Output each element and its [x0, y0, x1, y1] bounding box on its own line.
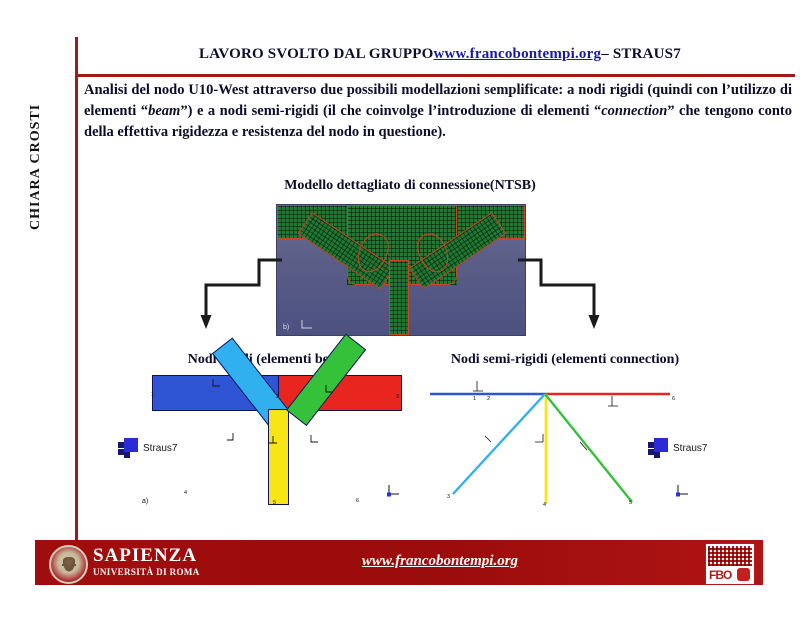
straus7-logo-left: Straus7	[118, 438, 177, 458]
node-number: 5	[273, 500, 276, 506]
sapienza-wordmark: SAPIENZA UNIVERSITÀ DI ROMA	[93, 546, 200, 578]
node-number: 4	[543, 502, 546, 508]
header-suffix: – STRAUS7	[601, 46, 681, 63]
footer-website-link[interactable]: www.francobontempi.org	[275, 553, 605, 570]
axis-triad-icon-top	[301, 319, 313, 329]
node-number: 2	[487, 396, 490, 402]
connector-arrow-right	[518, 255, 604, 333]
paragraph-emphasis-beam: beam	[148, 103, 180, 119]
node-number: 3	[396, 394, 399, 400]
fbo-logo: FBO	[705, 543, 755, 585]
node-number: 4	[184, 490, 187, 496]
slide-footer: SAPIENZA UNIVERSITÀ DI ROMA www.francobo…	[35, 540, 763, 585]
fbo-pattern-icon	[708, 546, 752, 566]
member-vertical-beam	[268, 409, 289, 505]
straus7-grid-icon	[118, 438, 138, 458]
node-number: 1	[151, 392, 154, 398]
node-number: 6	[672, 396, 675, 402]
fbo-dot-icon	[737, 568, 750, 581]
caption-right-diagram: Nodi semi-rigidi (elementi connection)	[405, 352, 725, 368]
fe-model-image: b)	[276, 204, 526, 336]
node-number: 1	[473, 396, 476, 402]
straus7-logo-right: Straus7	[648, 438, 707, 458]
slide-canvas: LAVORO SVOLTO DAL GRUPPO www.francobonte…	[0, 0, 800, 618]
author-name-vertical: CHIARA CROSTI	[28, 0, 44, 230]
sapienza-seal-icon	[49, 545, 88, 584]
axis-triad-icon-d	[268, 434, 279, 445]
node-number: 6	[356, 498, 359, 504]
axis-triad-icon-e	[308, 434, 319, 445]
axis-triad-icon-origin-left	[386, 484, 400, 498]
caption-top-figure: Modello dettagliato di connessione(NTSB)	[240, 178, 580, 194]
sapienza-line-2: UNIVERSITÀ DI ROMA	[93, 566, 200, 578]
node-number: 3	[447, 494, 450, 500]
straus7-grid-icon	[648, 438, 668, 458]
slide-header-title: LAVORO SVOLTO DAL GRUPPO www.francobonte…	[90, 38, 790, 70]
member-diagonal-right-connection	[545, 394, 632, 502]
axis-triad-icon-b	[323, 384, 334, 395]
vertical-accent-rule	[75, 37, 78, 580]
straus7-label: Straus7	[673, 443, 707, 454]
member-diagonal-left-connection	[453, 394, 545, 494]
caption-left-diagram: Nodi rigidi (elementi beam)	[130, 352, 410, 368]
figure-tag-top: b)	[283, 324, 289, 331]
straus7-label: Straus7	[143, 443, 177, 454]
connector-arrow-left	[196, 255, 282, 333]
header-website-link[interactable]: www.francobontempi.org	[433, 46, 601, 63]
node-number: 5	[629, 500, 632, 506]
axis-triad-icon-origin-right	[675, 484, 689, 498]
paragraph-emphasis-connection: connection	[601, 103, 667, 119]
axis-triad-icon-a	[210, 378, 221, 389]
figure-tag-left: a)	[142, 498, 148, 505]
paragraph-part-2: ”) e a nodi semi-rigidi (il che coinvolg…	[180, 103, 601, 119]
body-paragraph: Analisi del nodo U10-West attraverso due…	[84, 80, 792, 143]
sapienza-line-1: SAPIENZA	[93, 546, 200, 566]
fbo-label: FBO	[709, 568, 731, 582]
axis-triad-icon-c	[225, 432, 236, 443]
header-prefix: LAVORO SVOLTO DAL GRUPPO	[199, 46, 433, 63]
node-number: 2	[276, 394, 279, 400]
diagram-rigid-nodes: 1 2 3 4 5 6 a)	[140, 372, 410, 512]
horizontal-accent-rule	[75, 74, 795, 77]
